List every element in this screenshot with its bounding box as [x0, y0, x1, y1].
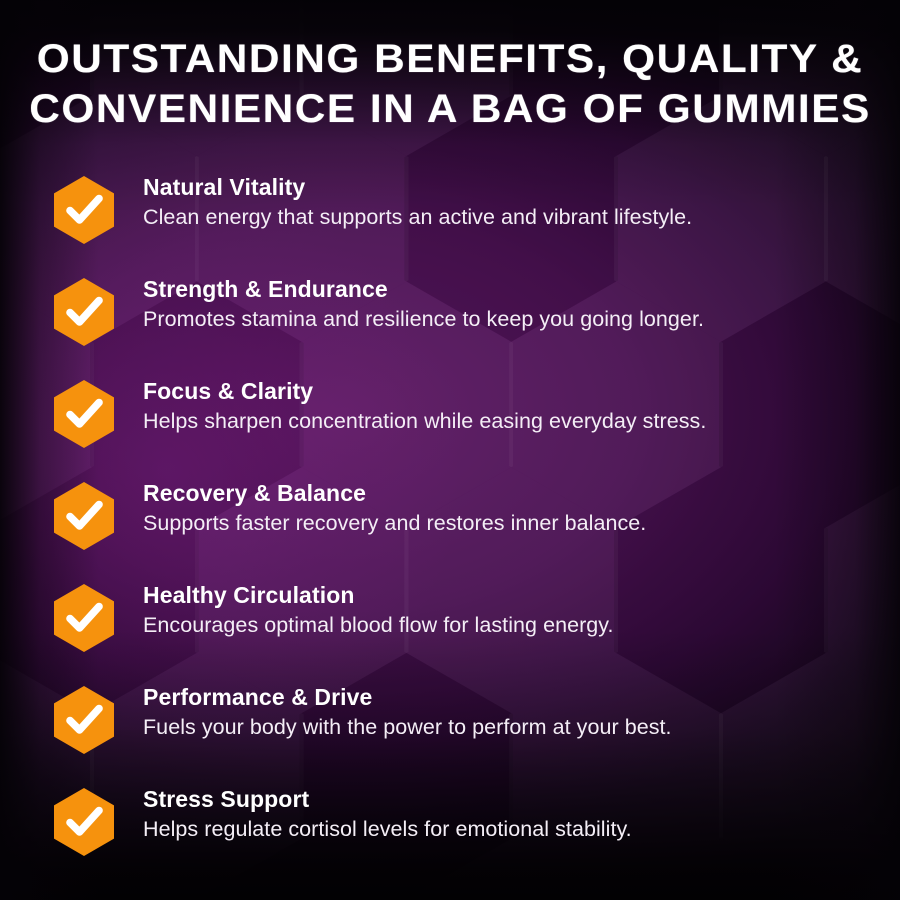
benefit-title: Healthy Circulation	[143, 580, 878, 610]
check-hexagon-icon	[54, 482, 114, 550]
benefit-text: Performance & DriveFuels your body with …	[143, 680, 878, 742]
checkmark-icon	[54, 278, 114, 346]
benefit-description: Helps regulate cortisol levels for emoti…	[143, 814, 878, 844]
check-hexagon-icon	[54, 278, 114, 346]
benefit-text: Stress SupportHelps regulate cortisol le…	[143, 782, 878, 844]
check-hexagon-icon	[54, 380, 114, 448]
benefit-title: Recovery & Balance	[143, 478, 878, 508]
benefits-infographic: OUTSTANDING BENEFITS, QUALITY & CONVENIE…	[0, 0, 900, 900]
benefit-item: Healthy CirculationEncourages optimal bl…	[54, 578, 878, 680]
benefit-description: Clean energy that supports an active and…	[143, 202, 878, 232]
benefit-title: Performance & Drive	[143, 682, 878, 712]
benefit-description: Supports faster recovery and restores in…	[143, 508, 878, 538]
checkmark-icon	[54, 584, 114, 652]
checkmark-icon	[54, 176, 114, 244]
check-hexagon-icon	[54, 686, 114, 754]
benefit-list: Natural VitalityClean energy that suppor…	[54, 170, 878, 884]
benefit-description: Fuels your body with the power to perfor…	[143, 712, 878, 742]
page-title-line-1: OUTSTANDING BENEFITS, QUALITY &	[0, 34, 900, 84]
benefit-description: Promotes stamina and resilience to keep …	[143, 304, 878, 334]
benefit-item: Recovery & BalanceSupports faster recove…	[54, 476, 878, 578]
benefit-text: Recovery & BalanceSupports faster recove…	[143, 476, 878, 538]
benefit-text: Strength & EndurancePromotes stamina and…	[143, 272, 878, 334]
page-title-line-2: CONVENIENCE IN A BAG OF GUMMIES	[0, 84, 900, 134]
benefit-text: Healthy CirculationEncourages optimal bl…	[143, 578, 878, 640]
benefit-item: Performance & DriveFuels your body with …	[54, 680, 878, 782]
benefit-description: Encourages optimal blood flow for lastin…	[143, 610, 878, 640]
benefit-item: Stress SupportHelps regulate cortisol le…	[54, 782, 878, 884]
benefit-title: Strength & Endurance	[143, 274, 878, 304]
benefit-title: Natural Vitality	[143, 172, 878, 202]
page-title: OUTSTANDING BENEFITS, QUALITY & CONVENIE…	[0, 34, 900, 134]
benefit-text: Natural VitalityClean energy that suppor…	[143, 170, 878, 232]
benefit-text: Focus & ClarityHelps sharpen concentrati…	[143, 374, 878, 436]
checkmark-icon	[54, 380, 114, 448]
benefit-title: Focus & Clarity	[143, 376, 878, 406]
benefit-description: Helps sharpen concentration while easing…	[143, 406, 878, 436]
check-hexagon-icon	[54, 176, 114, 244]
checkmark-icon	[54, 482, 114, 550]
benefit-title: Stress Support	[143, 784, 878, 814]
check-hexagon-icon	[54, 788, 114, 856]
benefit-item: Strength & EndurancePromotes stamina and…	[54, 272, 878, 374]
check-hexagon-icon	[54, 584, 114, 652]
benefit-item: Focus & ClarityHelps sharpen concentrati…	[54, 374, 878, 476]
checkmark-icon	[54, 686, 114, 754]
benefit-item: Natural VitalityClean energy that suppor…	[54, 170, 878, 272]
checkmark-icon	[54, 788, 114, 856]
